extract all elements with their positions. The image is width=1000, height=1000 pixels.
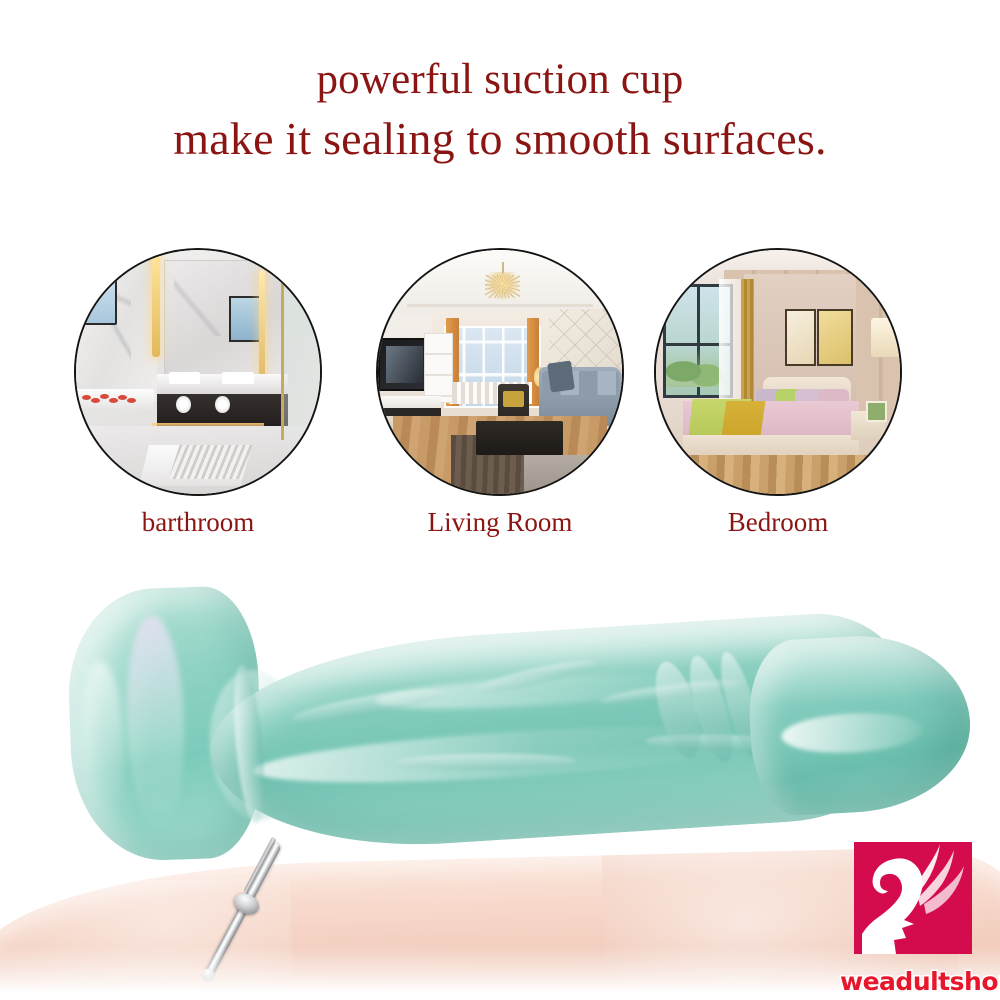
- product-marketing-image: powerful suction cup make it sealing to …: [0, 0, 1000, 1000]
- scene-label-livingroom: Living Room: [376, 508, 624, 538]
- bathroom-photo-icon: [74, 248, 322, 496]
- scene-label-bedroom: Bedroom: [654, 508, 902, 538]
- headline-line-1: powerful suction cup: [0, 52, 1000, 109]
- scene-bedroom: Bedroom: [654, 248, 902, 538]
- headline-line-2: make it sealing to smooth surfaces.: [0, 109, 1000, 170]
- bedroom-photo-icon: [654, 248, 902, 496]
- scene-livingroom: Living Room: [376, 248, 624, 538]
- watermark: weadultshop: [840, 842, 1000, 1000]
- product-head: [746, 630, 975, 817]
- headline: powerful suction cup make it sealing to …: [0, 52, 1000, 169]
- scene-bathroom: barthroom: [74, 248, 322, 538]
- scene-label-bathroom: barthroom: [74, 508, 322, 538]
- woman-face-silhouette-icon: [854, 842, 972, 954]
- scene-gallery: barthroom: [0, 248, 1000, 558]
- watermark-text: weadultshop: [840, 967, 1000, 996]
- livingroom-photo-icon: [376, 248, 624, 496]
- product-toy: [60, 578, 960, 878]
